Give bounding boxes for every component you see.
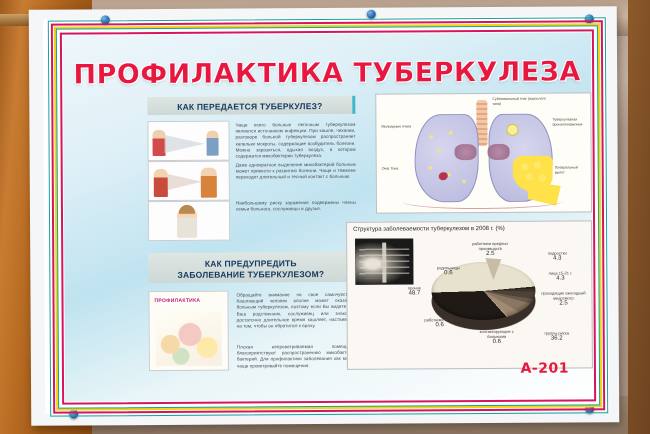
paragraph-prevention-1-text: Обращайте внимание на свое самочувствие.… (236, 292, 356, 329)
lung-label-subapical: Субапикальный очаг (взрослого типа) (492, 97, 554, 107)
poster-canvas: ПРОФИЛАКТИКА ТУБЕРКУЛЕЗА КАК ПЕРЕДАЕТСЯ … (63, 32, 593, 401)
subapical-focus-marker (506, 124, 518, 136)
left-bronchus-shape (455, 144, 477, 160)
pie-label-annual-checkup: проходящие ежегодный медосмотр 2.5 (539, 291, 587, 306)
pie-label-annual-checkup-name: проходящие ежегодный медосмотр (541, 290, 585, 300)
pie-label-risk-groups-value: 36.2 (534, 337, 580, 342)
prevention-poster-word: ПРОФИЛАКТИКА (154, 298, 200, 304)
diaphragm-line (403, 194, 563, 210)
pie-label-adolescents: подростки 4.3 (537, 251, 577, 261)
pie-label-risk-groups: группы риска 36.2 (534, 331, 580, 341)
pie-label-adolescents-name: подростки (548, 251, 567, 256)
lung-label-gon-focus: Очаг Гона (382, 166, 412, 171)
paragraph-prevention-2: Плохая непроветриваемая помещения благоп… (237, 344, 357, 370)
pie-label-annual-checkup-value: 2.5 (540, 301, 588, 306)
photo-cough-transmission-1 (147, 121, 229, 162)
pie-label-kptd-workers: работники КПТД 0.6 (418, 318, 462, 328)
lung-label-bronchopneumonia: Туберкулезная бронхопневмония (552, 117, 588, 126)
lung-label-pleural-effusion: Плевральный выпот (555, 165, 589, 174)
chart-title: Структура заболеваемости туберкулезом в … (353, 225, 585, 232)
poster-code: A-201 (521, 361, 569, 377)
pie-label-hazardous-workers: работники вредных производств 2.5 (465, 242, 515, 257)
pie-label-contacts-value: 0.6 (474, 340, 520, 345)
pie-label-contacts-name: контактирующие с больными (480, 329, 514, 339)
pie-label-postpartum: родильницы 0.6 (431, 266, 465, 276)
section-header-transmission: КАК ПЕРЕДАЕТСЯ ТУБЕРКУЛЕЗ? (147, 96, 355, 115)
lung-anatomy-diagram: Субапикальный очаг (взрослого типа) Мили… (375, 92, 592, 213)
pie-label-postpartum-name: родильницы (437, 265, 460, 270)
tuberculosis-prevention-poster: ПРОФИЛАКТИКА ТУБЕРКУЛЕЗА КАК ПЕРЕДАЕТСЯ … (29, 6, 620, 426)
section-header-prevention-line2: ЗАБОЛЕВАНИЕ ТУБЕРКУЛЕЗОМ? (154, 269, 347, 281)
lung-label-miliary: Милиарные очаги (381, 124, 415, 129)
page-title: ПРОФИЛАКТИКА ТУБЕРКУЛЕЗА (63, 56, 591, 90)
paragraph-transmission-3: Наибольшему риску заражения подвержены ч… (236, 200, 356, 213)
photo-prevention-poster: ПРОФИЛАКТИКА (148, 291, 228, 371)
pie-label-kptd-workers-value: 0.6 (418, 323, 462, 328)
right-bronchus-shape (488, 144, 510, 160)
screenshot-root: ПРОФИЛАКТИКА ТУБЕРКУЛЕЗА КАК ПЕРЕДАЕТСЯ … (0, 0, 650, 434)
push-pin-top-center[interactable] (367, 10, 376, 19)
paragraph-prevention-1: Обращайте внимание на свое самочувствие.… (236, 292, 356, 330)
photo-cough-transmission-2 (148, 161, 230, 202)
pie-label-age-15-21: лица 15-21 г. 4.3 (539, 271, 581, 281)
pie-label-contacts: контактирующие с больными 0.6 (474, 330, 520, 345)
photo-cough-transmission-3 (148, 201, 230, 242)
pie-label-adolescents-value: 4.3 (537, 257, 577, 262)
paragraph-transmission-2-text: Даже однократное выделение микобактерий … (236, 162, 356, 180)
pie-label-postpartum-value: 0.6 (431, 271, 465, 276)
pie-label-hazardous-workers-value: 2.5 (465, 252, 515, 257)
paragraph-prevention-2-text: Плохая непроветриваемая помещения благоп… (237, 344, 357, 368)
paragraph-transmission-3-text: Наибольшему риску заражения подвержены ч… (236, 200, 356, 212)
wooden-edge-right (628, 0, 650, 434)
section-header-prevention: КАК ПРЕДУПРЕДИТЬ ЗАБОЛЕВАНИЕ ТУБЕРКУЛЕЗО… (148, 252, 356, 283)
pie-label-other-value: 48.7 (395, 292, 433, 297)
pie-label-age-15-21-name: лица 15-21 г. (549, 270, 573, 275)
pie-label-hazardous-workers-name: работники вредных производств (472, 241, 508, 251)
paragraph-transmission-2: Даже однократное выделение микобактерий … (236, 162, 356, 181)
tb-incidence-chart-card: Структура заболеваемости туберкулезом в … (346, 220, 593, 369)
pie-label-other: прочие 48.7 (395, 286, 433, 296)
paragraph-transmission-1: Чаще всего больные легочным туберкулезом… (235, 122, 355, 160)
pie-label-age-15-21-value: 4.3 (539, 277, 581, 282)
chest-xray-image (355, 238, 413, 284)
paragraph-transmission-1-text: Чаще всего больные легочным туберкулезом… (235, 122, 355, 159)
